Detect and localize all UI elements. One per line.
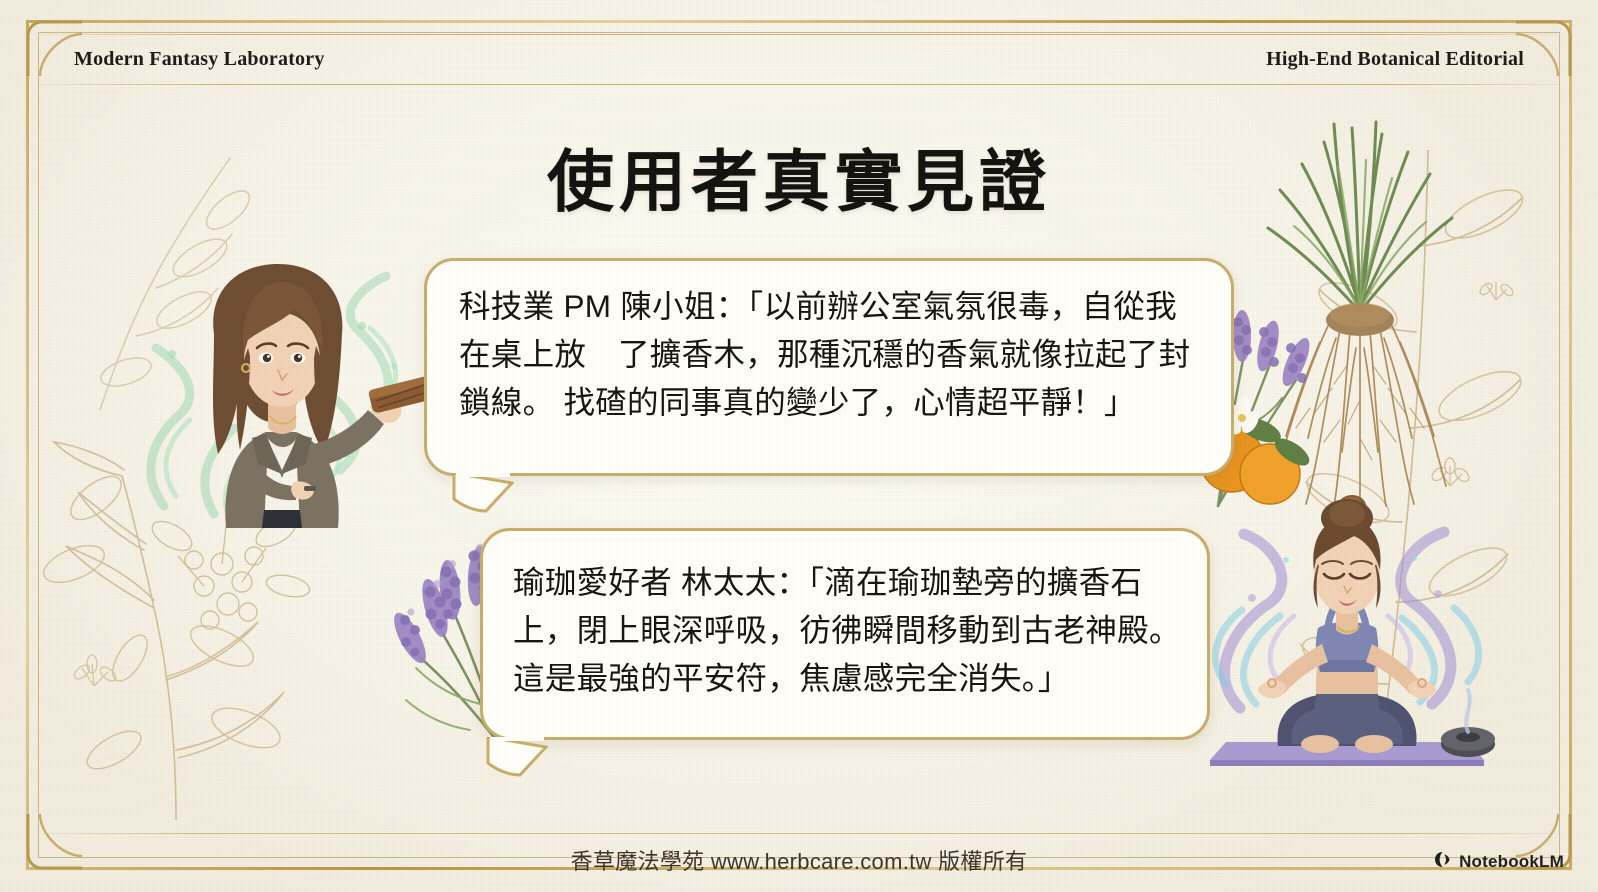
notebooklm-branding: NotebookLM — [1433, 850, 1564, 874]
header-rule-top — [40, 34, 1558, 35]
testimonial-bubble-1: 科技業 PM 陳小姐：「以前辦公室氣氛很毒，自從我在桌上放 了擴香木，那種沉穩的… — [424, 258, 1234, 476]
poster-canvas: Modern Fantasy Laboratory High-End Botan… — [0, 0, 1598, 892]
header-band: Modern Fantasy Laboratory High-End Botan… — [40, 36, 1558, 82]
footer-rule — [38, 833, 1560, 834]
notebooklm-label: NotebookLM — [1459, 852, 1564, 872]
page-title: 使用者真實見證 — [0, 128, 1598, 225]
notebooklm-logo-icon — [1433, 850, 1452, 874]
testimonial-text-2: 瑜珈愛好者 林太太：「滴在瑜珈墊旁的擴香石上，閉上眼深呼吸，彷彿瞬間移動到古老神… — [513, 559, 1181, 703]
testimonial-bubble-2-tail — [486, 737, 548, 777]
businesswoman-illustration — [118, 238, 438, 528]
testimonial-text-1: 科技業 PM 陳小姐：「以前辦公室氣氛很毒，自從我在桌上放 了擴香木，那種沉穩的… — [459, 283, 1201, 427]
header-rule-bottom — [40, 84, 1558, 85]
footer-copyright: 香草魔法學苑 www.herbcare.com.tw 版權所有 — [0, 844, 1598, 876]
header-label-left: Modern Fantasy Laboratory — [74, 48, 325, 71]
testimonial-bubble-1-tail — [452, 473, 514, 513]
header-label-right: High-End Botanical Editorial — [1266, 48, 1524, 71]
testimonial-bubble-2: 瑜珈愛好者 林太太：「滴在瑜珈墊旁的擴香石上，閉上眼深呼吸，彷彿瞬間移動到古老神… — [480, 528, 1210, 740]
yoga-woman-illustration — [1182, 498, 1512, 768]
